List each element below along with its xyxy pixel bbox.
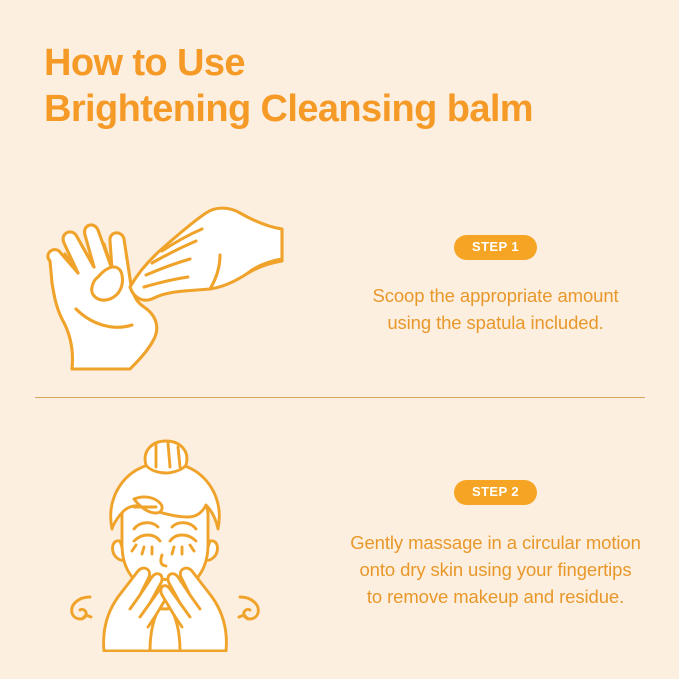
step-2-copy: STEP 2 Gently massage in a circular moti… (330, 480, 679, 610)
step-2-badge: STEP 2 (454, 480, 537, 505)
step-2-section: STEP 2 Gently massage in a circular moti… (0, 432, 679, 657)
page-title: How to Use Brightening Cleansing balm (44, 40, 644, 132)
title-line-1: How to Use (44, 40, 644, 86)
step-1-copy: STEP 1 Scoop the appropriate amount usin… (330, 235, 679, 336)
hands-scooping-balm-icon (34, 199, 296, 371)
how-to-use-infographic: How to Use Brightening Cleansing balm (0, 0, 679, 679)
step-1-illustration-container (0, 199, 330, 371)
title-line-2: Brightening Cleansing balm (44, 86, 644, 132)
step-1-text: Scoop the appropriate amount using the s… (372, 282, 618, 336)
step-1-section: STEP 1 Scoop the appropriate amount usin… (0, 190, 679, 380)
step-1-badge: STEP 1 (454, 235, 537, 260)
step-2-text: Gently massage in a circular motion onto… (350, 529, 641, 610)
woman-massaging-face-icon (60, 437, 270, 652)
step-2-illustration-container (0, 437, 330, 652)
section-divider (35, 397, 645, 398)
